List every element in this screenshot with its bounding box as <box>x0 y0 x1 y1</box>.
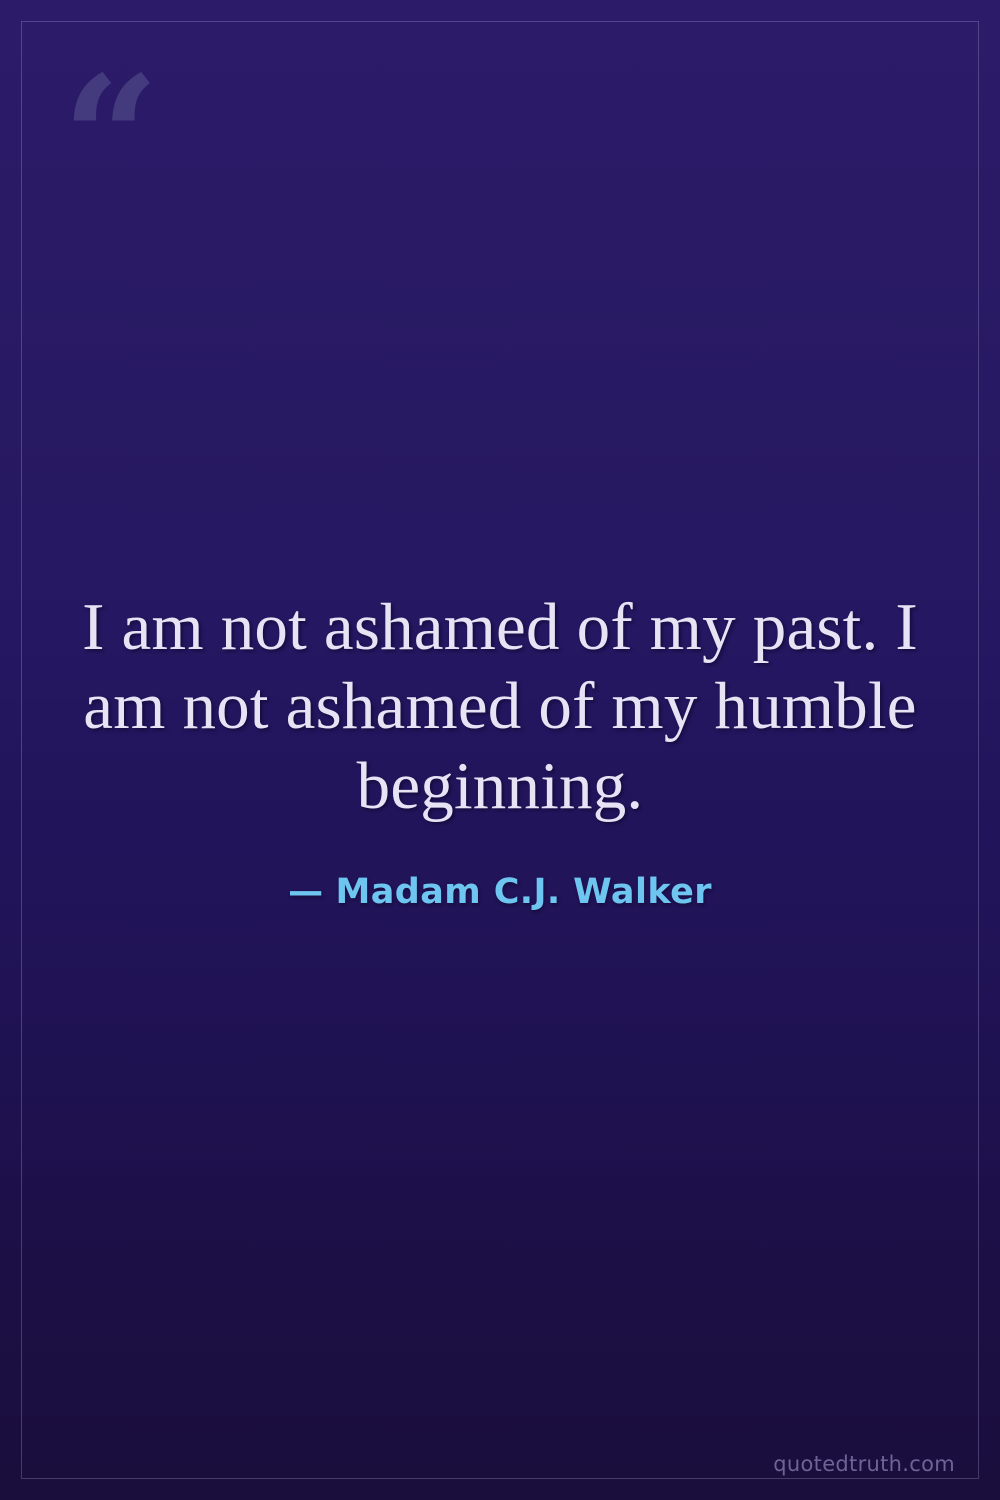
quote-attribution: —Madam C.J. Walker <box>288 872 712 912</box>
quote-card: “ I am not ashamed of my past. I am not … <box>0 0 1000 1500</box>
attribution-author-name: Madam C.J. Walker <box>336 872 712 912</box>
quote-text: I am not ashamed of my past. I am not as… <box>62 588 938 825</box>
quote-content: I am not ashamed of my past. I am not as… <box>0 0 1000 1500</box>
site-watermark: quotedtruth.com <box>773 1452 955 1476</box>
attribution-dash: — <box>288 872 323 912</box>
